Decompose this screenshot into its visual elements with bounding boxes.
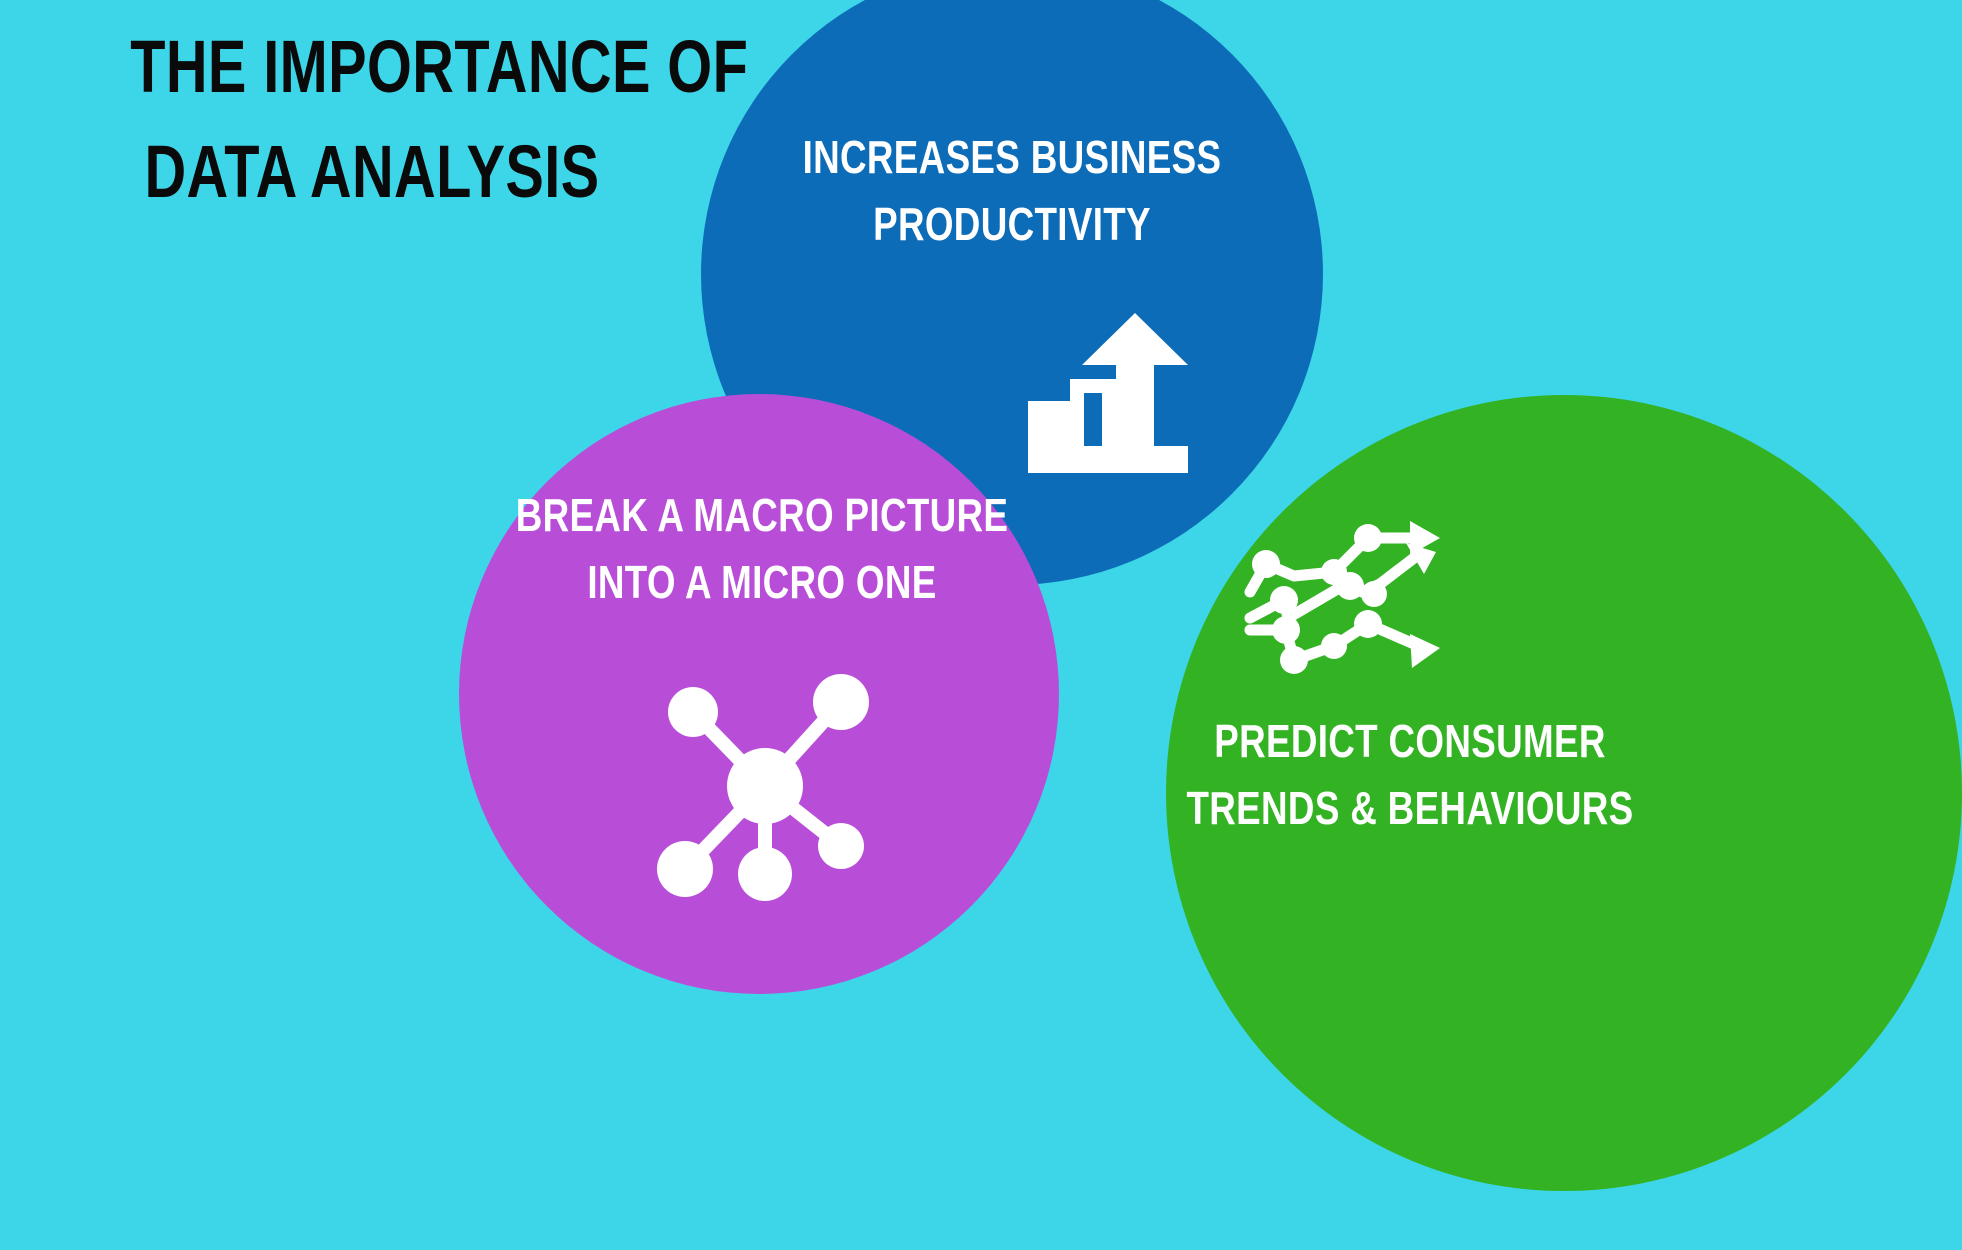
infographic-canvas: THE IMPORTANCE OF DATA ANALYSIS INCREASE…: [0, 0, 1962, 1250]
title-line-1: THE IMPORTANCE OF: [130, 14, 614, 119]
circle-break-macro-into-micro[interactable]: [459, 394, 1059, 994]
circle-predict-consumer-trends[interactable]: [1166, 395, 1962, 1191]
page-title: THE IMPORTANCE OF DATA ANALYSIS: [62, 14, 682, 224]
title-line-2: DATA ANALYSIS: [130, 119, 614, 224]
